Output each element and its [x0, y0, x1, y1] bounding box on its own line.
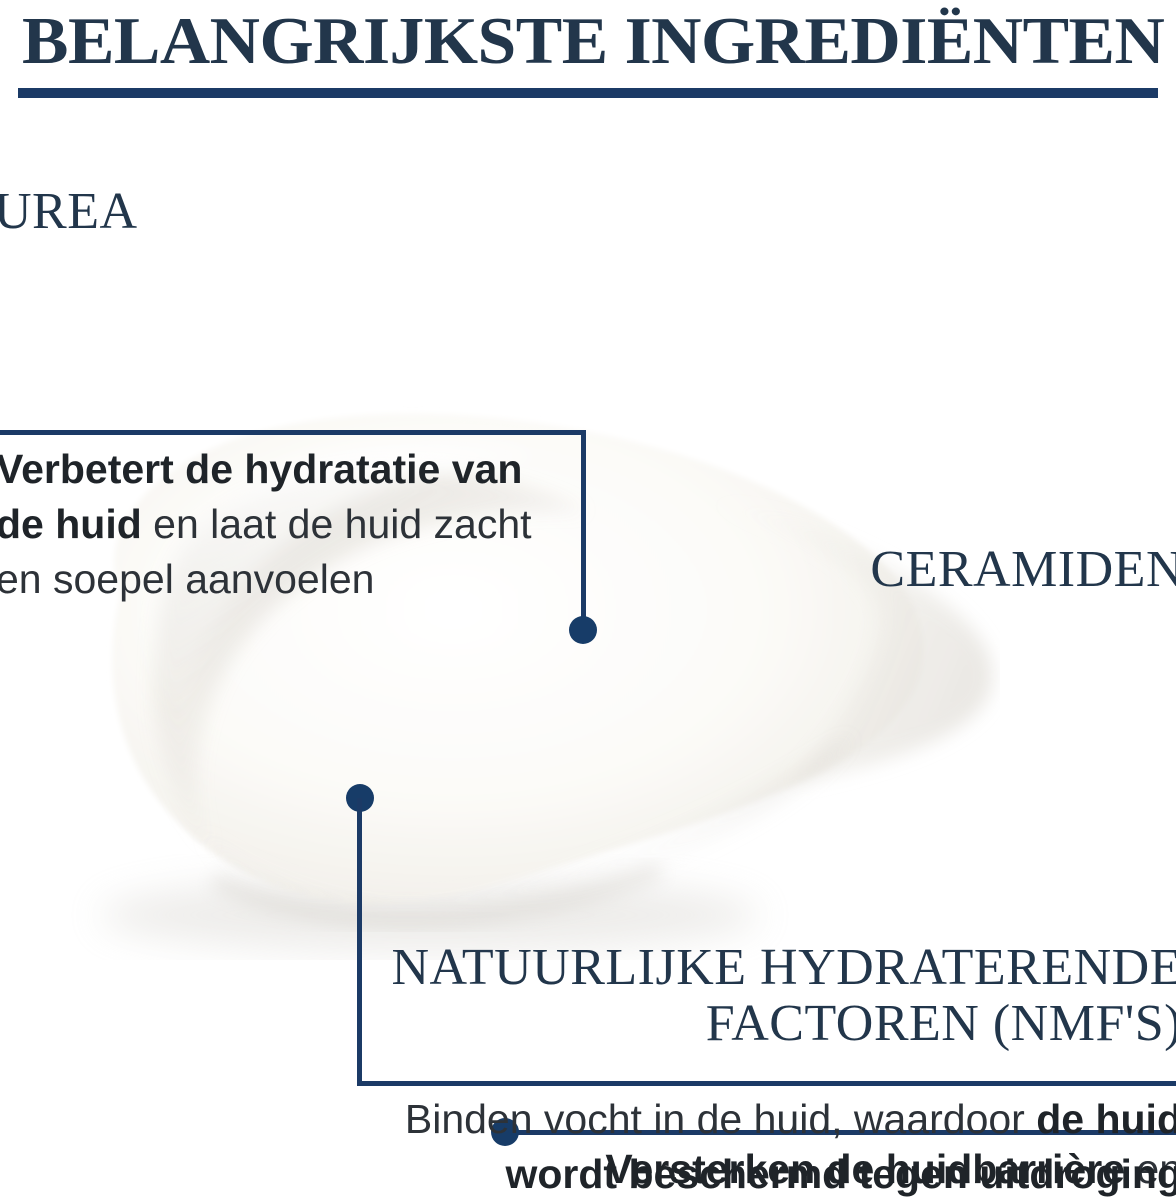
urea-description-line-3: en soepel aanvoelen — [0, 552, 532, 607]
nmf-desc-l2-s1: wordt beschermd tegen uitdroging — [505, 1151, 1176, 1197]
ingredient-nmf-description: Binden vocht in de huid, waardoor de hui… — [405, 1092, 1176, 1200]
urea-desc-l1-s1: Verbetert de hydratatie van — [0, 446, 522, 492]
nmf-desc-l1-s2: de huid — [1036, 1096, 1176, 1142]
urea-desc-l2-s2: en laat de huid zacht — [142, 501, 532, 547]
urea-connector-vertical-rule — [581, 430, 586, 630]
urea-desc-l3-s1: en soepel aanvoelen — [0, 556, 374, 602]
blob-bottom-shadow — [200, 736, 852, 920]
ingredient-urea-heading: UREA — [0, 184, 138, 240]
urea-description-line-2: de huid en laat de huid zacht — [0, 497, 532, 552]
title-underline-rule — [18, 88, 1158, 98]
nmf-connector-horizontal-rule — [357, 1081, 1176, 1086]
urea-desc-l2-s1: de huid — [0, 501, 142, 547]
blob-contact-shadow — [214, 870, 660, 919]
nmf-description-line-1: Binden vocht in de huid, waardoor de hui… — [405, 1092, 1176, 1147]
page-title: BELANGRIJKSTE INGREDIËNTEN — [22, 2, 1176, 80]
ingredient-ceramiden-heading: CERAMIDEN — [870, 542, 1176, 598]
ingredient-urea-description: Verbetert de hydratatie van de huid en l… — [0, 442, 532, 607]
header: BELANGRIJKSTE INGREDIËNTEN — [0, 0, 1176, 105]
nmf-desc-l1-s1: Binden vocht in de huid, waardoor — [405, 1096, 1036, 1142]
ingredients-infographic: BELANGRIJKSTE INGREDIËNTEN — [0, 0, 1176, 1200]
nmf-description-line-2: wordt beschermd tegen uitdroging — [405, 1147, 1176, 1200]
urea-description-line-1: Verbetert de hydratatie van — [0, 442, 532, 497]
nmf-heading-line-1: NATUURLIJKE HYDRATERENDE — [391, 940, 1176, 996]
nmf-heading-line-2: FACTOREN (NMF'S) — [391, 996, 1176, 1052]
urea-connector-dot — [569, 616, 597, 644]
urea-connector-horizontal-rule — [0, 430, 586, 435]
nmf-connector-vertical-rule — [357, 798, 362, 1086]
ingredient-nmf-heading: NATUURLIJKE HYDRATERENDE FACTOREN (NMF'S… — [391, 940, 1176, 1052]
